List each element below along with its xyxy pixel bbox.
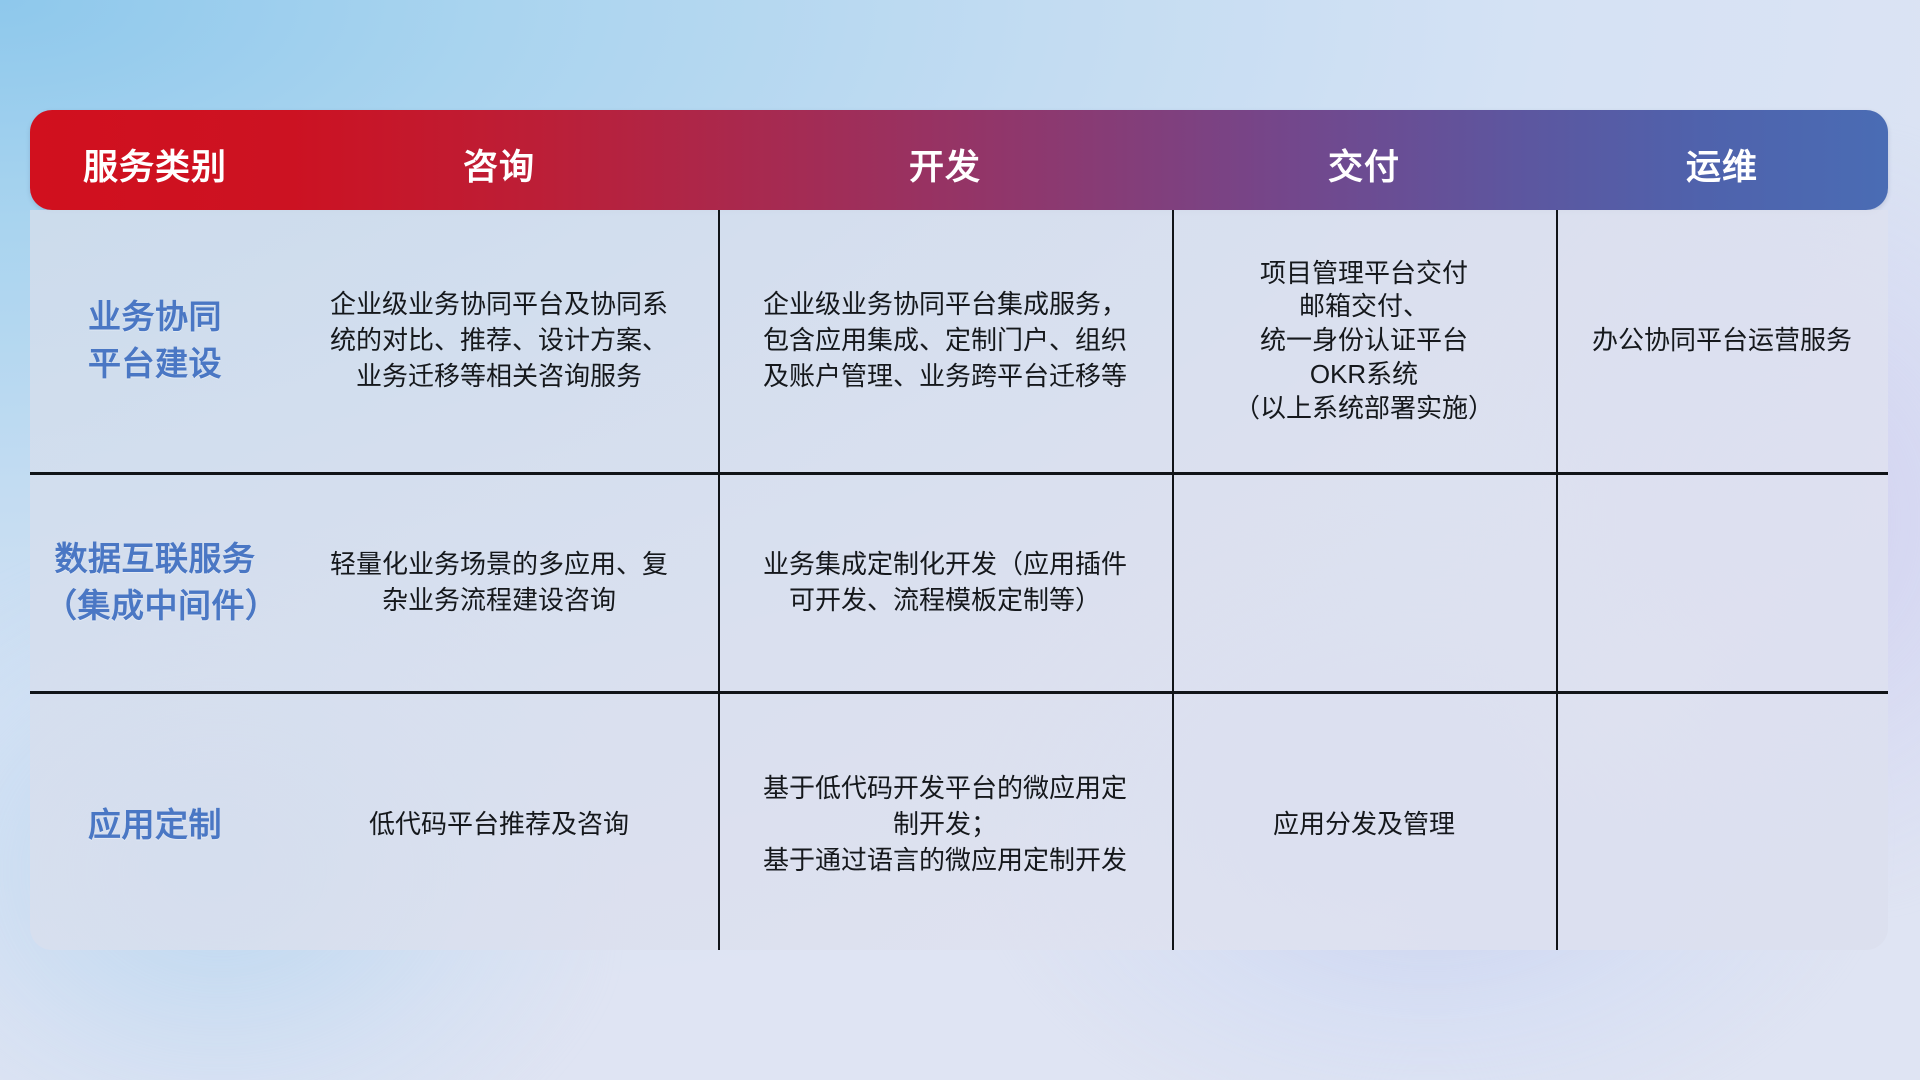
table-row: 业务协同 平台建设 企业级业务协同平台及协同系 统的对比、推荐、设计方案、 业务… — [30, 210, 1888, 472]
cell-development: 基于低代码开发平台的微应用定 制开发； 基于通过语言的微应用定制开发 — [718, 694, 1172, 950]
cell-text: 项目管理平台交付 邮箱交付、 统一身份认证平台 OKR系统 （以上系统部署实施） — [1234, 257, 1494, 426]
cell-text: 基于低代码开发平台的微应用定 制开发； 基于通过语言的微应用定制开发 — [763, 771, 1127, 879]
service-matrix-table: 服务类别 咨询 开发 交付 运维 业务协同 平台建设 企业级业务协同平台及协同系… — [30, 110, 1888, 950]
row-category-cell: 应用定制 — [30, 694, 280, 950]
cell-operations: 办公协同平台运营服务 — [1556, 210, 1888, 472]
table-header-row: 服务类别 咨询 开发 交付 运维 — [30, 110, 1888, 210]
category-label: 数据互联服务 （集成中间件） — [44, 536, 266, 630]
cell-operations — [1556, 475, 1888, 691]
cell-text: 企业级业务协同平台集成服务， 包含应用集成、定制门户、组织 及账户管理、业务跨平… — [763, 287, 1127, 395]
row-category-cell: 业务协同 平台建设 — [30, 210, 280, 472]
cell-operations — [1556, 694, 1888, 950]
column-header-operations: 运维 — [1556, 139, 1888, 210]
cell-text: 企业级业务协同平台及协同系 统的对比、推荐、设计方案、 业务迁移等相关咨询服务 — [330, 287, 668, 395]
cell-delivery: 应用分发及管理 — [1172, 694, 1556, 950]
cell-text: 业务集成定制化开发（应用插件 可开发、流程模板定制等） — [763, 547, 1127, 619]
cell-consulting: 轻量化业务场景的多应用、复 杂业务流程建设咨询 — [280, 475, 718, 691]
column-header-consulting: 咨询 — [280, 139, 718, 210]
cell-text: 应用分发及管理 — [1273, 807, 1455, 843]
cell-text: 办公协同平台运营服务 — [1592, 323, 1852, 359]
cell-consulting: 低代码平台推荐及咨询 — [280, 694, 718, 950]
category-label: 应用定制 — [88, 802, 222, 849]
cell-text: 低代码平台推荐及咨询 — [369, 807, 629, 843]
cell-text: 轻量化业务场景的多应用、复 杂业务流程建设咨询 — [330, 547, 668, 619]
category-label: 业务协同 平台建设 — [88, 294, 222, 388]
row-category-cell: 数据互联服务 （集成中间件） — [30, 475, 280, 691]
column-header-delivery: 交付 — [1172, 139, 1556, 210]
cell-development: 业务集成定制化开发（应用插件 可开发、流程模板定制等） — [718, 475, 1172, 691]
cell-delivery — [1172, 475, 1556, 691]
cell-development: 企业级业务协同平台集成服务， 包含应用集成、定制门户、组织 及账户管理、业务跨平… — [718, 210, 1172, 472]
table-body: 业务协同 平台建设 企业级业务协同平台及协同系 统的对比、推荐、设计方案、 业务… — [30, 210, 1888, 950]
column-header-service-category: 服务类别 — [30, 139, 280, 210]
table-row: 数据互联服务 （集成中间件） 轻量化业务场景的多应用、复 杂业务流程建设咨询 业… — [30, 475, 1888, 691]
cell-delivery: 项目管理平台交付 邮箱交付、 统一身份认证平台 OKR系统 （以上系统部署实施） — [1172, 210, 1556, 472]
table-row: 应用定制 低代码平台推荐及咨询 基于低代码开发平台的微应用定 制开发； 基于通过… — [30, 694, 1888, 950]
column-header-development: 开发 — [718, 139, 1172, 210]
cell-consulting: 企业级业务协同平台及协同系 统的对比、推荐、设计方案、 业务迁移等相关咨询服务 — [280, 210, 718, 472]
